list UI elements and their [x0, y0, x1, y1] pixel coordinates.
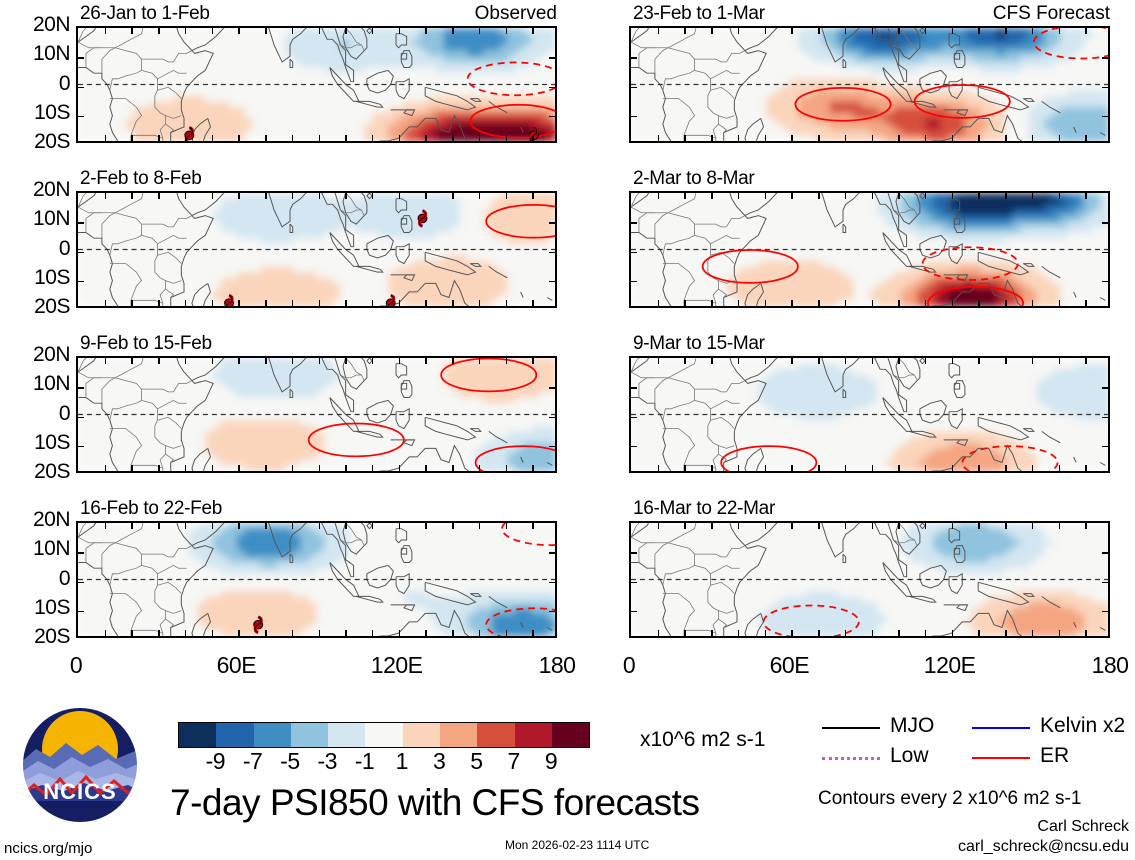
- axis-tick: [549, 611, 555, 613]
- logo-text: NCICS: [20, 779, 140, 805]
- y-axis-tick-label: 20S: [0, 295, 70, 319]
- axis-tick: [345, 300, 347, 306]
- legend-label: ER: [1040, 744, 1069, 768]
- axis-tick: [479, 135, 481, 141]
- axis-tick: [479, 523, 481, 529]
- axis-tick: [319, 135, 321, 141]
- axis-tick: [452, 358, 454, 364]
- axis-tick: [791, 28, 793, 34]
- axis-tick: [372, 193, 374, 199]
- axis-tick: [78, 252, 84, 254]
- axis-tick: [872, 193, 874, 199]
- axis-tick: [631, 582, 637, 584]
- y-axis-tick-label: 20N: [0, 178, 70, 202]
- axis-tick: [372, 28, 374, 34]
- axis-tick: [631, 87, 637, 89]
- axis-tick: [425, 135, 427, 141]
- y-axis-tick-label: 20S: [0, 460, 70, 484]
- axis-tick: [952, 300, 954, 306]
- map-panel: [76, 521, 557, 638]
- axis-tick: [898, 135, 900, 141]
- axis-tick: [78, 387, 84, 389]
- axis-tick: [399, 135, 401, 141]
- axis-tick: [658, 28, 660, 34]
- axis-tick: [212, 135, 214, 141]
- y-axis-tick-label: 0: [0, 402, 70, 426]
- legend-label: Low: [890, 744, 929, 768]
- axis-tick: [425, 358, 427, 364]
- axis-tick: [684, 358, 686, 364]
- axis-tick: [978, 28, 980, 34]
- y-axis-tick-label: 10N: [0, 537, 70, 561]
- axis-tick: [658, 630, 660, 636]
- axis-tick: [952, 630, 954, 636]
- axis-tick: [131, 28, 133, 34]
- axis-tick: [818, 630, 820, 636]
- axis-tick: [319, 523, 321, 529]
- axis-tick: [1032, 523, 1034, 529]
- axis-tick: [319, 630, 321, 636]
- axis-tick: [549, 116, 555, 118]
- axis-tick: [952, 28, 954, 34]
- axis-tick: [131, 465, 133, 471]
- axis-tick: [265, 523, 267, 529]
- axis-tick: [212, 193, 214, 199]
- axis-tick: [952, 358, 954, 364]
- axis-tick: [1032, 193, 1034, 199]
- y-axis-tick-label: 10N: [0, 42, 70, 66]
- x-axis-tick-label: 180: [1075, 652, 1135, 679]
- axis-tick: [532, 358, 534, 364]
- axis-tick: [506, 193, 508, 199]
- axis-tick: [425, 28, 427, 34]
- axis-tick: [265, 358, 267, 364]
- axis-tick: [1085, 358, 1087, 364]
- axis-tick: [1005, 135, 1007, 141]
- x-axis-tick-label: 0: [41, 652, 111, 679]
- colorbar-swatch: [254, 723, 291, 747]
- axis-tick: [684, 135, 686, 141]
- axis-tick: [532, 523, 534, 529]
- legend-line-low: [822, 757, 880, 760]
- axis-tick: [506, 135, 508, 141]
- axis-tick: [319, 28, 321, 34]
- panel-title: 2-Feb to 8-Feb: [80, 168, 201, 190]
- axis-tick: [549, 87, 555, 89]
- axis-tick: [158, 28, 160, 34]
- axis-tick: [1102, 582, 1108, 584]
- x-axis-tick-label: 60E: [201, 652, 271, 679]
- axis-tick: [292, 358, 294, 364]
- axis-tick: [452, 135, 454, 141]
- axis-tick: [78, 87, 84, 89]
- axis-tick: [452, 523, 454, 529]
- axis-tick: [952, 193, 954, 199]
- axis-tick: [738, 28, 740, 34]
- axis-tick: [738, 465, 740, 471]
- axis-tick: [658, 465, 660, 471]
- axis-tick: [898, 28, 900, 34]
- axis-tick: [345, 193, 347, 199]
- axis-tick: [978, 358, 980, 364]
- colorbar: [178, 722, 590, 748]
- axis-tick: [1102, 116, 1108, 118]
- axis-tick: [738, 193, 740, 199]
- axis-tick: [898, 465, 900, 471]
- axis-tick: [765, 630, 767, 636]
- y-axis-tick-label: 20S: [0, 625, 70, 649]
- site-url: ncics.org/mjo: [4, 840, 92, 857]
- axis-tick: [425, 300, 427, 306]
- axis-tick: [952, 135, 954, 141]
- panel-title: 16-Feb to 22-Feb: [80, 498, 222, 520]
- axis-tick: [738, 135, 740, 141]
- axis-tick: [925, 358, 927, 364]
- axis-tick: [319, 300, 321, 306]
- axis-tick: [872, 135, 874, 141]
- axis-tick: [345, 28, 347, 34]
- axis-tick: [1085, 523, 1087, 529]
- axis-tick: [711, 135, 713, 141]
- axis-tick: [185, 300, 187, 306]
- axis-tick: [345, 358, 347, 364]
- axis-tick: [265, 630, 267, 636]
- axis-tick: [765, 135, 767, 141]
- y-axis-tick-label: 20S: [0, 130, 70, 154]
- y-axis-tick-label: 20N: [0, 508, 70, 532]
- axis-tick: [978, 135, 980, 141]
- axis-tick: [872, 358, 874, 364]
- axis-tick: [265, 300, 267, 306]
- axis-tick: [238, 193, 240, 199]
- timestamp: Mon 2026-02-23 1114 UTC: [505, 838, 649, 852]
- axis-tick: [479, 300, 481, 306]
- axis-tick: [738, 630, 740, 636]
- axis-tick: [765, 300, 767, 306]
- axis-tick: [238, 358, 240, 364]
- map-panel: [629, 191, 1110, 308]
- axis-tick: [765, 358, 767, 364]
- axis-tick: [765, 193, 767, 199]
- axis-tick: [158, 630, 160, 636]
- axis-tick: [631, 252, 637, 254]
- map-panel: [76, 191, 557, 308]
- axis-tick: [684, 300, 686, 306]
- colorbar-swatch: [477, 723, 514, 747]
- axis-tick: [658, 135, 660, 141]
- axis-tick: [818, 300, 820, 306]
- axis-tick: [399, 465, 401, 471]
- axis-tick: [1059, 28, 1061, 34]
- axis-tick: [978, 523, 980, 529]
- axis-tick: [292, 135, 294, 141]
- y-axis-tick-label: 0: [0, 237, 70, 261]
- axis-tick: [452, 465, 454, 471]
- axis-tick: [292, 523, 294, 529]
- axis-tick: [1059, 193, 1061, 199]
- axis-tick: [425, 630, 427, 636]
- axis-tick: [845, 28, 847, 34]
- axis-tick: [549, 252, 555, 254]
- axis-tick: [711, 358, 713, 364]
- x-axis-tick-label: 120E: [362, 652, 432, 679]
- author-email: carl_schreck@ncsu.edu: [958, 838, 1129, 856]
- axis-tick: [549, 417, 555, 419]
- axis-tick: [631, 116, 637, 118]
- y-axis-tick-label: 10S: [0, 596, 70, 620]
- colorbar-swatch: [403, 723, 440, 747]
- axis-tick: [452, 300, 454, 306]
- axis-tick: [292, 300, 294, 306]
- colorbar-swatch: [515, 723, 552, 747]
- x-axis-tick-label: 0: [594, 652, 664, 679]
- axis-tick: [818, 193, 820, 199]
- axis-tick: [105, 630, 107, 636]
- axis-tick: [479, 193, 481, 199]
- x-axis-tick-label: 60E: [754, 652, 824, 679]
- axis-tick: [265, 465, 267, 471]
- axis-tick: [506, 465, 508, 471]
- axis-tick: [158, 523, 160, 529]
- axis-tick: [131, 358, 133, 364]
- map-panel: [629, 26, 1110, 143]
- axis-tick: [978, 630, 980, 636]
- axis-tick: [131, 630, 133, 636]
- axis-tick: [549, 281, 555, 283]
- axis-tick: [212, 358, 214, 364]
- axis-tick: [78, 57, 84, 59]
- axis-tick: [452, 28, 454, 34]
- axis-tick: [238, 135, 240, 141]
- colorbar-units-label: x10^6 m2 s-1: [640, 728, 765, 752]
- axis-tick: [479, 28, 481, 34]
- axis-tick: [185, 523, 187, 529]
- axis-tick: [158, 300, 160, 306]
- axis-tick: [925, 135, 927, 141]
- axis-tick: [105, 300, 107, 306]
- map-panel: [76, 26, 557, 143]
- axis-tick: [845, 193, 847, 199]
- axis-tick: [549, 552, 555, 554]
- axis-tick: [845, 630, 847, 636]
- axis-tick: [212, 465, 214, 471]
- axis-tick: [185, 28, 187, 34]
- axis-tick: [506, 28, 508, 34]
- axis-tick: [345, 630, 347, 636]
- axis-tick: [238, 630, 240, 636]
- axis-tick: [185, 358, 187, 364]
- axis-tick: [658, 300, 660, 306]
- axis-tick: [158, 358, 160, 364]
- axis-tick: [978, 465, 980, 471]
- axis-tick: [105, 465, 107, 471]
- axis-tick: [131, 300, 133, 306]
- map-panel: [629, 521, 1110, 638]
- y-axis-tick-label: 20N: [0, 343, 70, 367]
- axis-tick: [631, 387, 637, 389]
- axis-tick: [631, 281, 637, 283]
- axis-tick: [631, 417, 637, 419]
- contour-interval-note: Contours every 2 x10^6 m2 s-1: [818, 788, 1081, 810]
- axis-tick: [131, 135, 133, 141]
- axis-tick: [506, 523, 508, 529]
- axis-tick: [238, 300, 240, 306]
- author-name: Carl Schreck: [1037, 818, 1129, 836]
- axis-tick: [1032, 630, 1034, 636]
- axis-tick: [1102, 446, 1108, 448]
- axis-tick: [658, 193, 660, 199]
- axis-tick: [738, 300, 740, 306]
- legend-label: Kelvin x2: [1040, 714, 1125, 738]
- axis-tick: [845, 358, 847, 364]
- axis-tick: [818, 28, 820, 34]
- axis-tick: [212, 630, 214, 636]
- axis-tick: [238, 465, 240, 471]
- legend-line-er: [972, 757, 1030, 759]
- axis-tick: [549, 446, 555, 448]
- panel-column-header: Observed: [76, 3, 557, 25]
- y-axis-tick-label: 10S: [0, 431, 70, 455]
- axis-tick: [399, 193, 401, 199]
- axis-tick: [425, 193, 427, 199]
- axis-tick: [1059, 358, 1061, 364]
- axis-tick: [765, 523, 767, 529]
- axis-tick: [818, 523, 820, 529]
- axis-tick: [399, 300, 401, 306]
- axis-tick: [479, 358, 481, 364]
- y-axis-tick-label: 10N: [0, 372, 70, 396]
- legend-label: MJO: [890, 714, 934, 738]
- axis-tick: [372, 300, 374, 306]
- axis-tick: [372, 465, 374, 471]
- axis-tick: [1059, 523, 1061, 529]
- axis-tick: [1085, 135, 1087, 141]
- axis-tick: [292, 465, 294, 471]
- colorbar-swatch: [365, 723, 402, 747]
- axis-tick: [399, 523, 401, 529]
- axis-tick: [1102, 57, 1108, 59]
- axis-tick: [105, 358, 107, 364]
- axis-tick: [372, 358, 374, 364]
- axis-tick: [78, 222, 84, 224]
- colorbar-swatch: [291, 723, 328, 747]
- axis-tick: [372, 135, 374, 141]
- axis-tick: [292, 28, 294, 34]
- axis-tick: [532, 135, 534, 141]
- panel-title: 9-Feb to 15-Feb: [80, 333, 212, 355]
- axis-tick: [265, 135, 267, 141]
- axis-tick: [872, 300, 874, 306]
- axis-tick: [532, 28, 534, 34]
- axis-tick: [345, 523, 347, 529]
- axis-tick: [372, 630, 374, 636]
- axis-tick: [532, 300, 534, 306]
- axis-tick: [818, 358, 820, 364]
- axis-tick: [1102, 417, 1108, 419]
- axis-tick: [319, 465, 321, 471]
- axis-tick: [791, 465, 793, 471]
- axis-tick: [185, 465, 187, 471]
- y-axis-tick-label: 10S: [0, 266, 70, 290]
- axis-tick: [845, 523, 847, 529]
- axis-tick: [872, 465, 874, 471]
- axis-tick: [78, 611, 84, 613]
- axis-tick: [1032, 358, 1034, 364]
- panel-title: 16-Mar to 22-Mar: [633, 498, 775, 520]
- axis-tick: [345, 135, 347, 141]
- axis-tick: [131, 193, 133, 199]
- colorbar-swatch: [216, 723, 253, 747]
- axis-tick: [898, 630, 900, 636]
- y-axis-tick-label: 20N: [0, 13, 70, 37]
- axis-tick: [1085, 465, 1087, 471]
- colorbar-swatch: [552, 723, 589, 747]
- axis-tick: [845, 300, 847, 306]
- axis-tick: [452, 193, 454, 199]
- axis-tick: [265, 28, 267, 34]
- axis-tick: [952, 523, 954, 529]
- axis-tick: [925, 630, 927, 636]
- axis-tick: [684, 465, 686, 471]
- axis-tick: [658, 523, 660, 529]
- colorbar-tick-label: 9: [521, 748, 581, 775]
- axis-tick: [1102, 87, 1108, 89]
- axis-tick: [765, 465, 767, 471]
- axis-tick: [1102, 552, 1108, 554]
- axis-tick: [212, 523, 214, 529]
- axis-tick: [1059, 300, 1061, 306]
- axis-tick: [1059, 465, 1061, 471]
- axis-tick: [1032, 465, 1034, 471]
- axis-tick: [372, 523, 374, 529]
- axis-tick: [1005, 465, 1007, 471]
- axis-tick: [631, 611, 637, 613]
- axis-tick: [898, 523, 900, 529]
- axis-tick: [765, 28, 767, 34]
- axis-tick: [185, 193, 187, 199]
- axis-tick: [1102, 387, 1108, 389]
- axis-tick: [549, 57, 555, 59]
- axis-tick: [898, 300, 900, 306]
- axis-tick: [238, 523, 240, 529]
- axis-tick: [738, 523, 740, 529]
- axis-tick: [532, 465, 534, 471]
- legend-line-mjo: [822, 727, 880, 729]
- axis-tick: [1059, 135, 1061, 141]
- axis-tick: [711, 523, 713, 529]
- colorbar-swatch: [440, 723, 477, 747]
- axis-tick: [791, 523, 793, 529]
- axis-tick: [78, 446, 84, 448]
- axis-tick: [1032, 28, 1034, 34]
- axis-tick: [549, 222, 555, 224]
- axis-tick: [1102, 611, 1108, 613]
- axis-tick: [292, 193, 294, 199]
- colorbar-swatch: [179, 723, 216, 747]
- axis-tick: [506, 300, 508, 306]
- axis-tick: [1005, 523, 1007, 529]
- axis-tick: [711, 28, 713, 34]
- axis-tick: [1085, 28, 1087, 34]
- axis-tick: [105, 523, 107, 529]
- axis-tick: [105, 135, 107, 141]
- axis-tick: [1032, 300, 1034, 306]
- axis-tick: [532, 193, 534, 199]
- axis-tick: [158, 193, 160, 199]
- axis-tick: [78, 552, 84, 554]
- axis-tick: [399, 358, 401, 364]
- ncics-logo: NCICS: [20, 705, 140, 825]
